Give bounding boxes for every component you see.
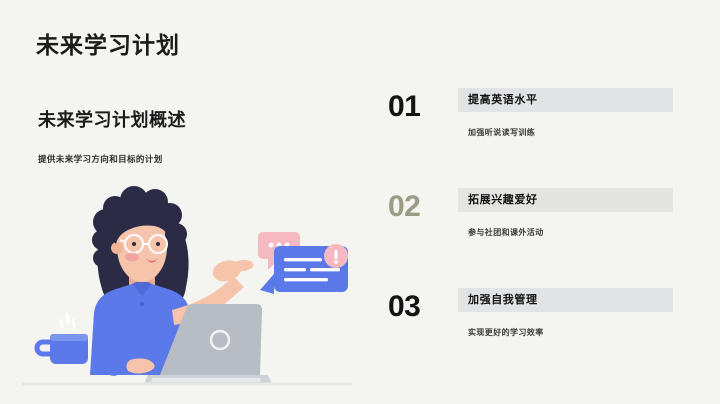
hair-curl [93, 249, 111, 267]
overview-description: 提供未来学习方向和目标的计划 [38, 153, 358, 165]
key-points-list: 01 提高英语水平 加强听说读写训练 02 拓展兴趣爱好 参与社团和课外活动 0… [388, 88, 688, 388]
point-description: 实现更好的学习效率 [458, 327, 673, 338]
hair-curl [167, 242, 187, 262]
point-description: 加强听说读写训练 [458, 127, 673, 138]
eye-right [156, 242, 160, 246]
point-body: 拓展兴趣爱好 参与社团和课外活动 [458, 188, 673, 238]
page-title: 未来学习计划 [36, 26, 180, 60]
coffee-mug-icon [37, 311, 88, 364]
point-body: 加强自我管理 实现更好的学习效率 [458, 288, 673, 338]
point-body: 提高英语水平 加强听说读写训练 [458, 88, 673, 138]
list-item[interactable]: 02 拓展兴趣爱好 参与社团和课外活动 [388, 188, 688, 288]
illustration-svg [22, 182, 352, 397]
cheek [125, 253, 139, 262]
study-illustration [22, 182, 352, 397]
shirt-button [140, 302, 144, 306]
list-item[interactable]: 03 加强自我管理 实现更好的学习效率 [388, 288, 688, 388]
point-title: 拓展兴趣爱好 [458, 188, 673, 212]
hair-curl [92, 230, 112, 250]
eye-left [132, 242, 136, 246]
list-item[interactable]: 01 提高英语水平 加强听说读写训练 [388, 88, 688, 188]
ear [111, 242, 123, 254]
point-title: 提高英语水平 [458, 88, 673, 112]
finger [234, 260, 254, 271]
point-description: 参与社团和课外活动 [458, 227, 673, 238]
overview-section: 未来学习计划概述 提供未来学习方向和目标的计划 [38, 106, 358, 165]
point-number: 01 [388, 92, 420, 122]
point-number: 03 [388, 292, 420, 322]
notification-badge-icon [324, 244, 348, 268]
hair-curl [165, 223, 187, 245]
overview-heading: 未来学习计划概述 [38, 106, 358, 132]
point-number: 02 [388, 192, 420, 222]
point-title: 加强自我管理 [458, 288, 673, 312]
